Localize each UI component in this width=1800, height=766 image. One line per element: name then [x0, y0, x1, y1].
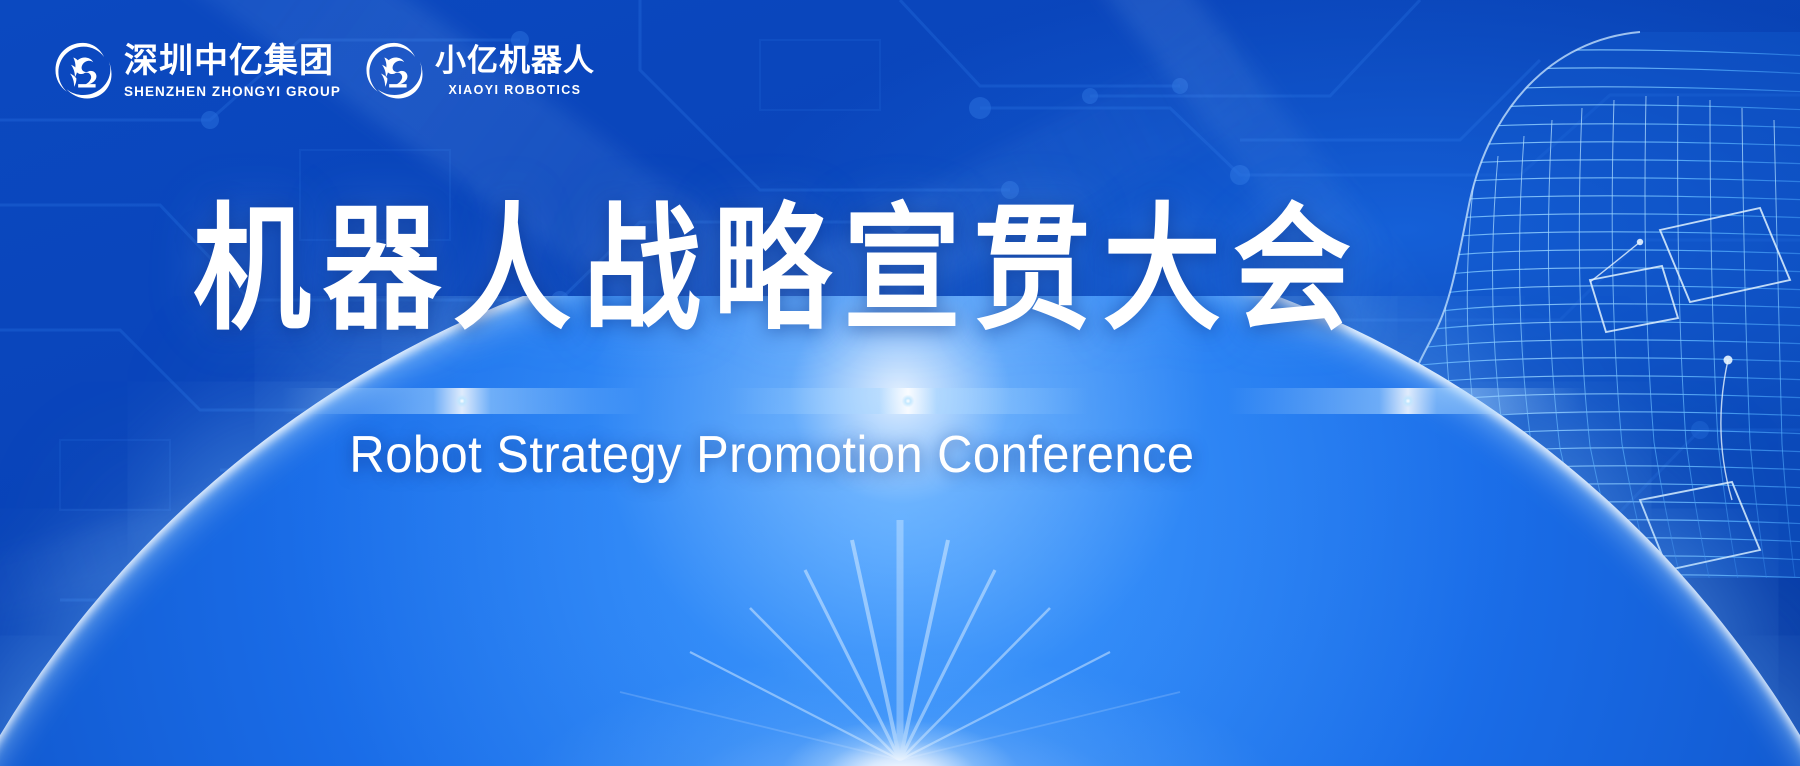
circuit-traces-background: [0, 0, 1800, 766]
globe-body: [0, 296, 1800, 766]
earth-horizon-graphic: [0, 296, 1800, 766]
light-beam: [0, 366, 674, 633]
sunburst-glow: [450, 482, 1350, 766]
xiaoyi-emblem-icon: [363, 40, 425, 102]
lens-flare-sparkle: [1228, 388, 1588, 414]
logo-en-name: XIAOYI ROBOTICS: [435, 84, 595, 97]
logo-text-block: 深圳中亿集团 SHENZHEN ZHONGYI GROUP: [124, 44, 341, 99]
atmosphere-glow: [0, 296, 1800, 766]
wireframe-face-graphic: [1340, 30, 1800, 650]
page-subtitle: Robot Strategy Promotion Conference: [0, 425, 1618, 485]
globe-rim-light: [0, 296, 1800, 766]
logo-xiaoyi-robotics[interactable]: 小亿机器人 XIAOYI ROBOTICS: [363, 40, 595, 102]
title-block: 机器人战略宣贯大会: [0, 196, 1800, 323]
logo-cn-name: 小亿机器人: [435, 46, 595, 77]
logo-shenzhen-zhongyi-group[interactable]: 深圳中亿集团 SHENZHEN ZHONGYI GROUP: [52, 40, 341, 102]
logo-cn-name: 深圳中亿集团: [124, 44, 341, 78]
page-title: 机器人战略宣贯大会: [181, 196, 1363, 344]
globe-city-lights: [0, 296, 1800, 766]
lens-flare-sparkle: [728, 388, 1088, 414]
light-beams: [0, 0, 1800, 766]
logo-text-block: 小亿机器人 XIAOYI ROBOTICS: [435, 46, 595, 97]
logo-group: 深圳中亿集团 SHENZHEN ZHONGYI GROUP 小亿机器人 XIAO…: [52, 40, 595, 102]
zhongyi-emblem-icon: [52, 40, 114, 102]
conference-banner: 深圳中亿集团 SHENZHEN ZHONGYI GROUP 小亿机器人 XIAO…: [0, 0, 1800, 766]
lens-flare-sparkle: [282, 388, 642, 414]
sparkle-divider: [0, 388, 1800, 414]
logo-en-name: SHENZHEN ZHONGYI GROUP: [124, 85, 341, 99]
